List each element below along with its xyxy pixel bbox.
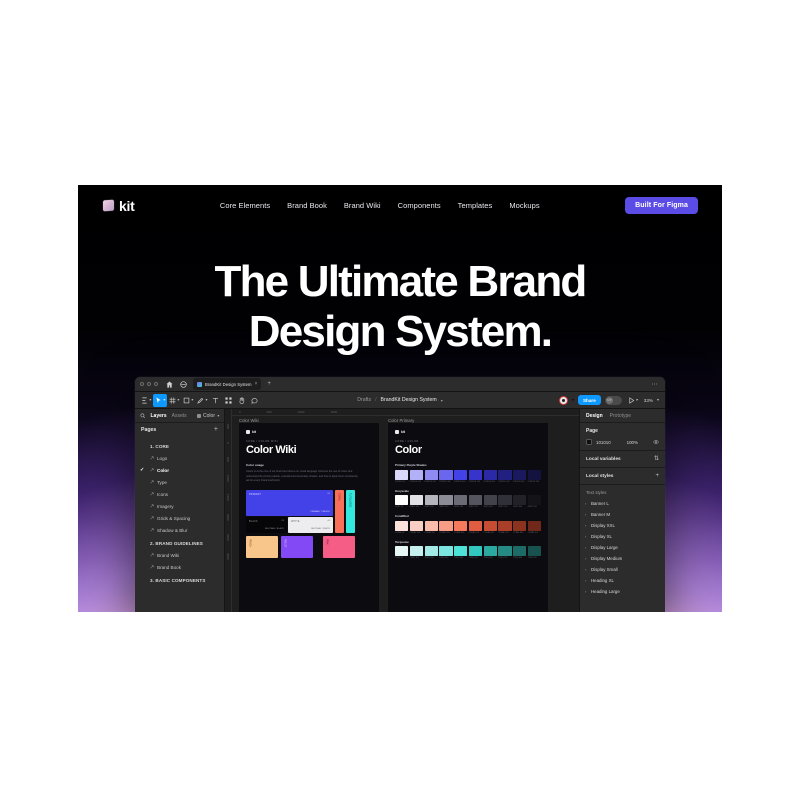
swatch-cell[interactable]: TURQ 50 [395,546,408,560]
chevron-down-icon: ▾ [191,398,193,402]
swatch-cell[interactable]: CORAL 400 [454,521,467,535]
swatch-name: CORAL 200 [425,532,438,535]
ruler-left: -500 0 500 1000 1500 2000 2500 3000 [225,409,232,612]
chevron-down-icon: ▾ [217,414,219,418]
color-block-category: NEUTRAL / BLACK [265,528,284,530]
minimize-window-dot[interactable] [147,382,151,386]
built-for-figma-button[interactable]: Built For Figma [625,197,698,214]
tab-design[interactable]: Design [586,413,603,419]
current-page-chip[interactable]: Color ▾ [197,413,219,419]
nav-link-components[interactable]: Components [398,201,441,210]
nav-link-core-elements[interactable]: Core Elements [220,201,270,210]
swatch-name: TURQ 300 [439,557,452,560]
tab-assets[interactable]: Assets [172,413,187,419]
page-item-brand-wiki[interactable]: Brand Wiki [135,549,224,561]
page-item-grids-spacing[interactable]: Grids & Spacing [135,512,224,524]
nav-links: Core Elements Brand Book Brand Wiki Comp… [220,201,540,210]
pen-tool-icon[interactable]: ▾ [195,394,209,407]
swatch-cell[interactable]: TURQ 900 [528,546,541,560]
text-style-label: Display Medium [591,556,622,561]
swatch-cell[interactable]: CORAL 100 [410,521,423,535]
swatch-chip [484,521,497,531]
swatch-cell[interactable]: GREY 300 [439,495,452,509]
frame-logo-text: kit [401,430,405,434]
share-button[interactable]: Share [578,395,601,405]
toolbar-actions: ▾ Share </> ▾ 33% ▾ [559,394,661,407]
color-block-category: NEUTRAL / WHITE [311,528,330,530]
design-panel: Design Prototype Page 101010 100% [579,409,665,612]
swatch-cell[interactable]: GREY 100 [410,495,423,509]
page-item-icons[interactable]: Icons [135,488,224,500]
swatch-cell[interactable]: PURPLE 900 [528,470,541,484]
hand-tool-icon[interactable] [235,394,248,407]
color-block-secondary-pink[interactable]: PINK [323,536,355,558]
headline-line-1: The Ultimate Brand [215,257,586,306]
swatch-cell[interactable]: TURQ 600 [484,546,497,560]
text-style-label: Display XXL [591,523,615,528]
ruler-tick: 500 [267,410,272,414]
frame-color-primary[interactable]: kit CORE / COLOR Color Primary Purple Sh… [388,423,548,612]
nav-link-brand-wiki[interactable]: Brand Wiki [344,201,381,210]
frame-eyebrow: CORE / COLOR [395,440,541,443]
page-item-brand-book[interactable]: Brand Book [135,561,224,573]
swatch-cell[interactable]: GREY 400 [454,495,467,509]
file-tab[interactable]: BrandKit Design System × [193,378,261,390]
figma-app-window: BrandKit Design System × + ⋯ ▾ ▾ ▾ [135,377,665,612]
page-item-shadow-blur[interactable]: Shadow & Blur [135,524,224,536]
swatch-cell[interactable]: GREY 200 [425,495,438,509]
swatch-cell[interactable]: PURPLE 800 [513,470,526,484]
swatch-chip [484,470,497,480]
swatch-chip [395,521,408,531]
swatch-chip [425,470,438,480]
swatch-section-turquoise: Turquoise TURQ 50 TURQ 100 TURQ 200 TURQ… [395,540,541,561]
chevron-down-icon: ▾ [149,398,151,402]
swatch-chip [469,546,482,556]
swatch-name: GREY 800 [513,506,526,509]
ruler-tick: 2000 [226,514,230,521]
swatch-name: TURQ 900 [528,557,541,560]
page-item-label: Icons [157,492,168,497]
swatch-name: GREY 100 [410,506,423,509]
swatch-chip [410,521,423,531]
text-style-label: Display Small [591,567,618,572]
figma-canvas[interactable]: 0 500 1000 1500 Color Wiki kit [225,409,579,612]
swatch-chip [513,521,526,531]
text-style-display-xl[interactable]: ›Display XL [580,531,665,542]
chevron-down-icon[interactable]: ▾ [572,398,574,402]
frame-logo: kit [395,430,541,434]
text-style-heading-large[interactable]: ›Heading Large [580,586,665,597]
swatch-cell[interactable]: CORAL 300 [439,521,452,535]
swatch-chip [410,546,423,556]
chevron-right-icon: › [585,534,586,539]
swatch-cell[interactable]: TURQ 100 [410,546,423,560]
page-group-title: 1. CORE [135,439,224,452]
chevron-right-icon: › [585,578,586,583]
breadcrumb-drafts[interactable]: Drafts [357,397,371,403]
swatch-name: CORAL 300 [439,532,452,535]
swatch-cell[interactable]: GREY 50 [395,495,408,509]
text-style-banner-l[interactable]: ›Banner L [580,498,665,509]
color-block-name: VIOLET [284,539,287,548]
swatch-chip [484,546,497,556]
swatch-name: CORAL 500 [469,532,482,535]
swatch-chip [410,470,423,480]
frame-logo: kit [246,430,372,434]
text-style-display-large[interactable]: ›Display Large [580,542,665,553]
swatch-chip [454,495,467,505]
color-block-name: CORAL [338,493,341,501]
page-link-icon [150,492,154,496]
page-item-label: Imagery [157,504,174,509]
text-style-label: Heading XL [591,578,614,583]
swatch-cell[interactable]: CORAL 900 [528,521,541,535]
shape-tool-icon[interactable]: ▾ [181,394,195,407]
swatch-chip [498,495,511,505]
nav-link-templates[interactable]: Templates [458,201,493,210]
text-tool-icon[interactable] [209,394,222,407]
swatch-chip [513,546,526,556]
text-style-label: Banner L [591,501,609,506]
swatch-cell[interactable]: TURQ 300 [439,546,452,560]
swatch-chip [484,495,497,505]
tab-layers[interactable]: Layers [151,413,167,419]
swatch-chip [528,521,541,531]
page-item-label: Brand Book [157,565,181,570]
swatch-name: CORAL 800 [513,532,526,535]
swatch-name: PURPLE 200 [425,481,438,484]
ruler-tick: 3000 [226,553,230,560]
frame-eyebrow: CORE / COLOR WIKI [246,440,372,443]
swatch-cell[interactable]: GREY 500 [469,495,482,509]
swatch-chip [528,495,541,505]
swatch-name: PURPLE 600 [484,481,497,484]
swatch-name: TURQ 800 [513,557,526,560]
move-tool-icon[interactable]: ▾ [153,394,167,407]
chevron-down-icon: ▾ [636,398,638,402]
color-block-accent-coral[interactable]: CORAL [335,490,344,533]
file-thumbnail-icon [197,382,202,387]
site-navbar: kit Core Elements Brand Book Brand Wiki … [78,185,722,226]
text-style-heading-xl[interactable]: ›Heading XL [580,575,665,586]
color-block-accent-turquoise[interactable]: TURQUOISE [346,490,355,533]
swatch-name: CORAL 50 [395,532,408,535]
swatch-name: PURPLE 50 [395,481,408,484]
swatch-name: CORAL 700 [498,532,511,535]
swatch-cell[interactable]: TURQ 800 [513,546,526,560]
swatch-name: TURQ 100 [410,557,423,560]
swatch-name: TURQ 700 [498,557,511,560]
avatar[interactable] [559,396,568,405]
page-item-logo[interactable]: Logo [135,452,224,464]
swatch-cell[interactable]: PURPLE 50 [395,470,408,484]
pages-title: Pages [141,427,156,433]
text-styles-list[interactable]: ›Banner L ›Banner M ›Display XXL ›Displa… [580,498,665,597]
swatch-name: TURQ 400 [454,557,467,560]
text-style-display-xxl[interactable]: ›Display XXL [580,520,665,531]
page-item-type[interactable]: Type [135,476,224,488]
page-link-icon [150,468,154,472]
chevron-right-icon: › [585,556,586,561]
swatch-name: GREY 900 [528,506,541,509]
ruler-tick: -500 [226,423,230,429]
visibility-eye-icon[interactable] [653,439,659,445]
page-link-icon [150,504,154,508]
window-menu-icon[interactable]: ⋯ [652,381,661,388]
swatch-name: GREY 300 [439,506,452,509]
frame-title: Color Wiki [246,445,372,456]
page-link-icon [150,456,154,460]
color-block-secondary-violet[interactable]: VIOLET [281,536,313,558]
text-style-label: Display Large [591,545,618,550]
chevron-right-icon: › [585,501,586,506]
swatch-name: GREY 600 [484,506,497,509]
page-color-opacity[interactable]: 100% [627,440,638,445]
swatch-chip [469,470,482,480]
chevron-down-icon[interactable]: ▾ [657,398,659,402]
chevron-right-icon: › [585,567,586,572]
text-style-label: Banner M [591,512,610,517]
close-tab-icon[interactable]: × [254,382,257,387]
page-color-hex[interactable]: 101010 [596,440,611,445]
file-tab-title: BrandKit Design System [205,382,251,387]
page-section-title: Page [586,428,659,434]
ruler-tick: 1000 [226,475,230,482]
swatch-name: TURQ 50 [395,557,408,560]
swatch-name: PURPLE 900 [528,481,541,484]
color-block-index: 04 [328,520,330,522]
cube-logo-icon [246,430,250,434]
recent-files-icon[interactable] [179,380,188,389]
open-variables-icon[interactable]: ⇅ [654,456,659,462]
swatch-cell[interactable]: CORAL 50 [395,521,408,535]
ruler-tick: 500 [226,457,230,462]
search-icon[interactable] [140,413,146,419]
page-link-icon [150,528,154,532]
text-styles-title: Text styles [580,485,665,498]
page-item-label: Brand Wiki [157,553,179,558]
swatch-cell[interactable]: PURPLE 400 [454,470,467,484]
color-block-name: PRIMARY [249,493,261,496]
swatch-chip [425,495,438,505]
swatch-cell[interactable]: CORAL 600 [484,521,497,535]
brand-logo[interactable]: kit [103,198,134,214]
swatch-cell[interactable]: CORAL 700 [498,521,511,535]
local-variables-title: Local variables [586,457,621,462]
breadcrumb-filename[interactable]: BrandKit Design System [381,397,437,403]
color-block-name: PEACH [249,539,252,547]
ruler-tick: 0 [226,442,230,444]
swatch-cell[interactable]: GREY 800 [513,495,526,509]
page-link-icon [150,565,154,569]
chevron-right-icon: › [585,589,586,594]
page-link-icon [150,553,154,557]
page-root: kit Core Elements Brand Book Brand Wiki … [0,0,800,800]
frame-tool-icon[interactable]: ▾ [167,394,181,407]
swatch-chip [439,521,452,531]
add-style-icon[interactable]: + [655,473,659,479]
page-item-color[interactable]: ✓Color [135,464,224,476]
swatch-cell[interactable]: GREY 900 [528,495,541,509]
swatch-chip [439,495,452,505]
page-item-label: Logo [157,456,167,461]
frame-section-title: Color usage [246,463,372,467]
swatch-chip [395,470,408,480]
local-variables-row[interactable]: Local variables ⇅ [580,451,665,468]
chevron-down-icon: ▾ [177,398,179,402]
page-color-swatch[interactable] [586,439,592,445]
app-titlebar: BrandKit Design System × + ⋯ [135,377,665,392]
text-style-label: Display XL [591,534,612,539]
resources-icon[interactable] [222,394,235,407]
pages-header: Pages + [135,423,224,436]
swatch-cell[interactable]: PURPLE 600 [484,470,497,484]
comment-tool-icon[interactable] [248,394,261,407]
color-block-index: 03 [282,520,284,522]
swatch-chip [425,521,438,531]
color-block-grid: PRIMARY 01 PRIMARY / INDIGO CORAL TURQUO… [239,490,379,552]
page-list[interactable]: 1. CORE Logo ✓Color Type Icons Imagery G… [135,436,224,612]
swatch-cell[interactable]: GREY 600 [484,495,497,509]
figma-toolbar: ▾ ▾ ▾ ▾ ▾ [135,392,665,409]
swatch-cell[interactable]: PURPLE 200 [425,470,438,484]
frame-title: Color [395,445,541,456]
page-swatch-icon [197,414,201,418]
swatch-cell[interactable]: TURQ 700 [498,546,511,560]
swatch-chip [469,521,482,531]
swatch-cell[interactable]: CORAL 800 [513,521,526,535]
color-block-name: PINK [326,539,329,545]
local-styles-row[interactable]: Local styles + [580,468,665,485]
page-fill-section: Page 101010 100% [580,423,665,451]
swatch-chip [395,546,408,556]
swatch-name: TURQ 200 [425,557,438,560]
swatch-cell[interactable]: TURQ 200 [425,546,438,560]
chevron-down-icon: ▾ [205,398,207,402]
color-block-neutral-black[interactable]: BLACK 03 NEUTRAL / BLACK [246,517,287,533]
dev-mode-glyph: </> [606,397,613,404]
chevron-down-icon[interactable]: ▾ [441,398,443,403]
text-style-display-medium[interactable]: ›Display Medium [580,553,665,564]
window-traffic-lights[interactable] [140,382,158,386]
swatch-chip [439,470,452,480]
page-item-label: Grids & Spacing [157,516,190,521]
app-body: Layers Assets Color ▾ Pages + 1. CORE [135,409,665,612]
color-block-secondary-peach[interactable]: PEACH [246,536,278,558]
swatch-name: PURPLE 700 [498,481,511,484]
swatch-section-coral-red: Coral/Red CORAL 50 CORAL 100 CORAL 200 C… [395,514,541,535]
swatch-chip [410,495,423,505]
text-style-label: Heading Large [591,589,620,594]
swatch-cell[interactable]: CORAL 500 [469,521,482,535]
layers-panel: Layers Assets Color ▾ Pages + 1. CORE [135,409,225,612]
layers-panel-tabs: Layers Assets Color ▾ [135,409,224,423]
page-item-imagery[interactable]: Imagery [135,500,224,512]
page-fill-row[interactable]: 101010 100% [586,439,659,445]
swatch-section-title: Greyscale [395,489,541,493]
tab-prototype[interactable]: Prototype [610,413,631,419]
swatch-chip [469,495,482,505]
swatch-chip [528,546,541,556]
swatch-row: GREY 50 GREY 100 GREY 200 GREY 300 GREY … [395,495,541,509]
swatch-chip [513,495,526,505]
dev-mode-toggle[interactable]: </> [605,396,622,405]
swatch-chip [454,470,467,480]
swatch-cell[interactable]: PURPLE 700 [498,470,511,484]
swatch-section-title: Primary Purple Shades [395,463,541,467]
swatch-name: GREY 200 [425,506,438,509]
swatch-cell[interactable]: TURQ 500 [469,546,482,560]
page-item-label: Shadow & Blur [157,528,187,533]
swatch-row: CORAL 50 CORAL 100 CORAL 200 CORAL 300 C… [395,521,541,535]
swatch-cell[interactable]: GREY 700 [498,495,511,509]
color-block-name: WHITE [291,520,300,523]
nav-link-mockups[interactable]: Mockups [509,201,539,210]
ruler-tick: 1000 [298,410,305,414]
design-panel-tabs: Design Prototype [580,409,665,423]
swatch-name: PURPLE 400 [454,481,467,484]
local-styles-title: Local styles [586,474,613,479]
swatch-name: PURPLE 300 [439,481,452,484]
color-block-primary-indigo[interactable]: PRIMARY 01 PRIMARY / INDIGO [246,490,333,516]
text-style-display-small[interactable]: ›Display Small [580,564,665,575]
close-window-dot[interactable] [140,382,144,386]
chevron-right-icon: › [585,545,586,550]
main-menu-icon[interactable]: ▾ [139,394,153,407]
swatch-name: TURQ 600 [484,557,497,560]
swatch-cell[interactable]: PURPLE 500 [469,470,482,484]
chevron-right-icon: › [585,512,586,517]
swatch-cell[interactable]: PURPLE 100 [410,470,423,484]
new-tab-icon[interactable]: + [267,381,271,387]
ruler-tick: 0 [239,410,241,414]
swatch-chip [395,495,408,505]
cube-logo-icon [103,200,114,212]
chevron-right-icon: › [585,523,586,528]
swatch-cell[interactable]: CORAL 200 [425,521,438,535]
swatch-name: GREY 500 [469,506,482,509]
swatch-name: CORAL 600 [484,532,497,535]
maximize-window-dot[interactable] [154,382,158,386]
swatch-section-title: Coral/Red [395,514,541,518]
swatch-cell[interactable]: TURQ 400 [454,546,467,560]
frame-body-text: Colour is at the core of our brand and d… [246,470,358,484]
swatch-cell[interactable]: PURPLE 300 [439,470,452,484]
swatch-chip [498,521,511,531]
ruler-top: 0 500 1000 1500 [225,409,579,416]
home-icon[interactable] [165,380,174,389]
text-style-banner-m[interactable]: ›Banner M [580,509,665,520]
add-page-icon[interactable]: + [214,426,218,433]
swatch-chip [498,470,511,480]
frame-color-wiki[interactable]: kit CORE / COLOR WIKI Color Wiki Color u… [239,423,379,612]
page-link-icon [150,480,154,484]
breadcrumb-separator: / [375,397,376,403]
zoom-level-label[interactable]: 33% [644,398,653,403]
swatch-chip [513,470,526,480]
swatch-name: TURQ 500 [469,557,482,560]
nav-link-brand-book[interactable]: Brand Book [287,201,327,210]
cube-logo-icon [395,430,399,434]
swatch-section-primary-purple: Primary Purple Shades PURPLE 50 PURPLE 1… [395,463,541,484]
swatch-chip [425,546,438,556]
present-play-icon[interactable]: ▾ [626,394,640,407]
color-block-neutral-white[interactable]: WHITE 04 NEUTRAL / WHITE [288,517,333,533]
swatch-row: PURPLE 50 PURPLE 100 PURPLE 200 PURPLE 3… [395,470,541,484]
check-icon: ✓ [140,467,144,473]
current-page-label: Color [203,413,215,419]
